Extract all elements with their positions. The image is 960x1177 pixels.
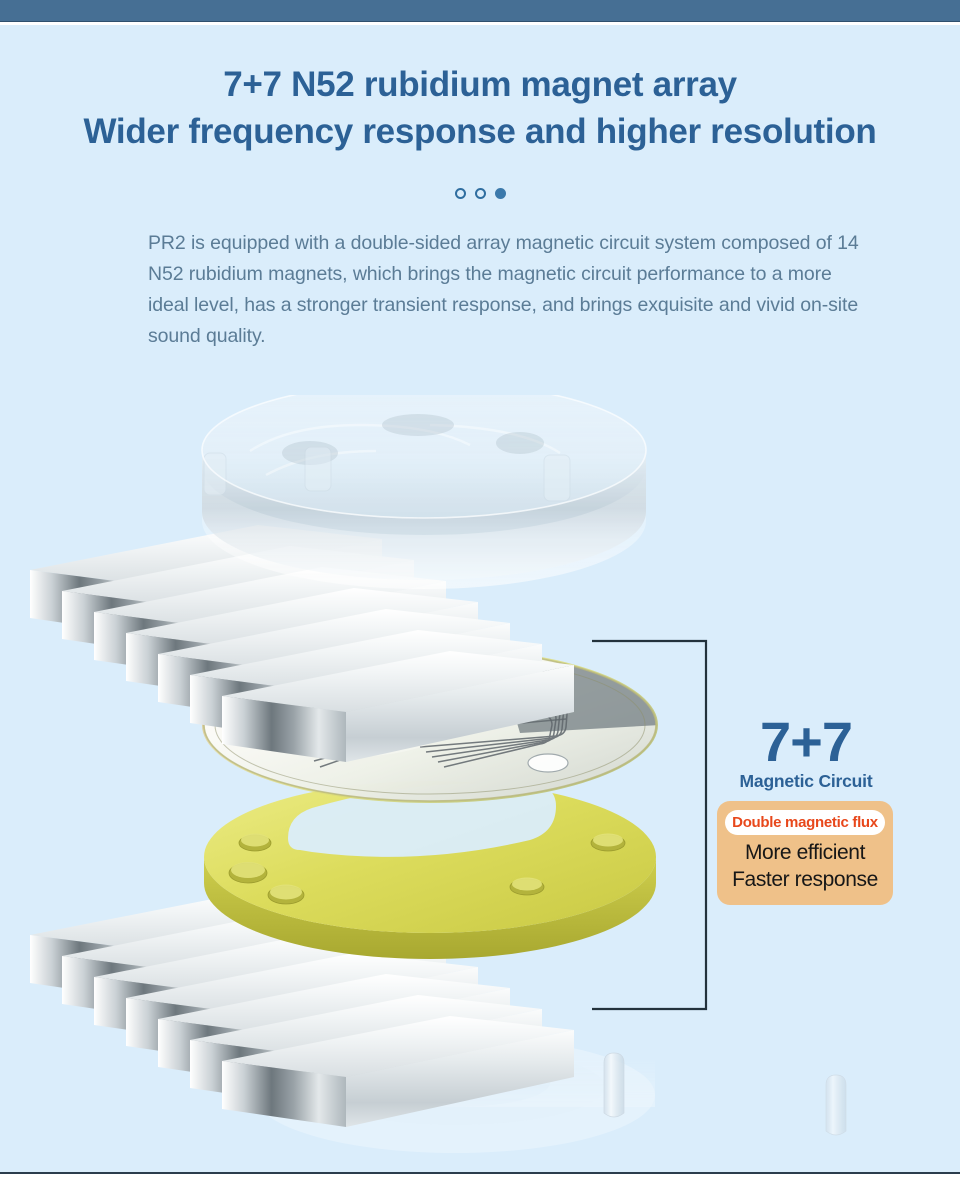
top-white-gap (0, 22, 960, 25)
callout-subtitle: Magnetic Circuit (706, 771, 906, 792)
title-line-1: 7+7 N52 rubidium magnet array (0, 62, 960, 108)
carousel-dot-2[interactable] (475, 188, 486, 199)
benefit-box: Double magnetic flux More efficient Fast… (717, 801, 893, 905)
top-chrome-bar (0, 0, 960, 22)
product-feature-page: 7+7 N52 rubidium magnet array Wider freq… (0, 0, 960, 1177)
benefit-line-1: More efficient (717, 839, 893, 866)
carousel-indicator[interactable] (0, 188, 960, 199)
callout-number: 7+7 (706, 715, 906, 769)
benefit-line-2: Faster response (717, 866, 893, 893)
translucent-housing-top (202, 395, 646, 589)
carousel-dot-3[interactable] (495, 188, 506, 199)
description-paragraph: PR2 is equipped with a double-sided arra… (148, 228, 868, 352)
page-title: 7+7 N52 rubidium magnet array Wider freq… (0, 62, 960, 156)
carousel-dot-1[interactable] (455, 188, 466, 199)
gasket-ring (204, 781, 656, 959)
title-line-2: Wider frequency response and higher reso… (0, 108, 960, 156)
magnetic-circuit-callout: 7+7 Magnetic Circuit Double magnetic flu… (706, 715, 906, 905)
double-magnetic-flux-badge: Double magnetic flux (725, 810, 885, 835)
